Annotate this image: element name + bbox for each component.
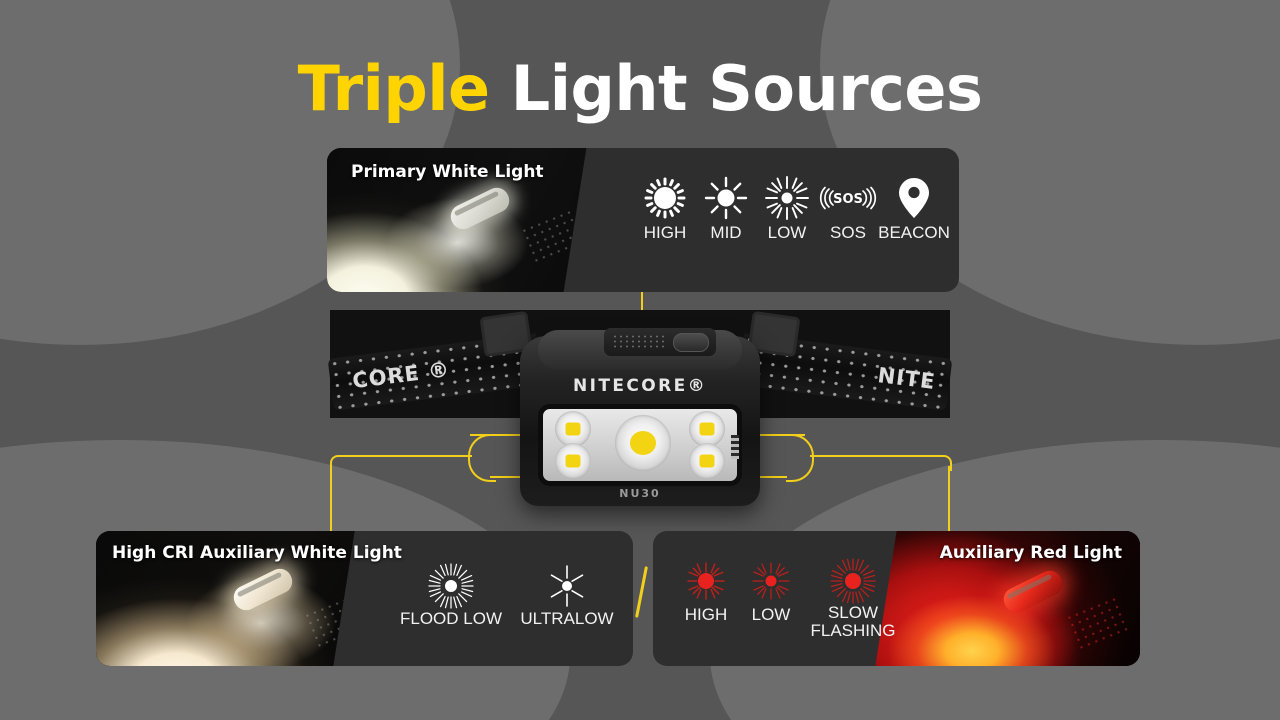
switch-texture xyxy=(612,334,664,349)
mode-primary-sos-label: SOS xyxy=(830,224,866,242)
primary-mode-list: HIGH MID xyxy=(637,174,947,242)
beacon-pin-icon xyxy=(897,174,931,222)
panel-red-label: Auxiliary Red Light xyxy=(940,543,1122,563)
mode-primary-low-label: LOW xyxy=(768,224,807,242)
mode-red-slow-flashing-label: SLOW FLASHING xyxy=(810,604,895,640)
mode-primary-high[interactable]: HIGH xyxy=(637,174,693,242)
red-sun-flash-icon xyxy=(829,559,877,603)
power-button[interactable] xyxy=(673,333,709,352)
led-bottom-left xyxy=(555,443,591,479)
mode-red-high-label: HIGH xyxy=(685,606,728,624)
lamp-top-housing xyxy=(538,330,742,370)
svg-text:SOS: SOS xyxy=(833,192,863,207)
led-top-right xyxy=(689,411,725,447)
lamp-body: NITECORE® NU30 xyxy=(520,336,760,506)
page-title-rest: Light Sources xyxy=(490,52,983,125)
lamp-brand-text: NITECORE® xyxy=(520,376,760,396)
panel-auxiliary-red-light: Auxiliary Red Light xyxy=(653,531,1140,666)
red-sun-high-icon xyxy=(685,559,727,603)
mode-primary-beacon-label: BEACON xyxy=(878,224,950,242)
lamp-model-text: NU30 xyxy=(520,487,760,500)
switch-pad[interactable] xyxy=(604,328,716,356)
mode-primary-high-label: HIGH xyxy=(644,224,687,242)
mode-primary-sos[interactable]: SOS SOS xyxy=(820,174,876,242)
mode-red-high[interactable]: HIGH xyxy=(677,559,735,624)
mode-primary-low[interactable]: LOW xyxy=(759,174,815,242)
mode-cri-ultralow[interactable]: ULTRALOW xyxy=(514,563,620,628)
led-center-main xyxy=(615,415,671,471)
mode-cri-flood-low[interactable]: FLOOD LOW xyxy=(398,563,504,628)
mode-primary-mid-label: MID xyxy=(710,224,741,242)
mode-red-slow-flashing[interactable]: SLOW FLASHING xyxy=(807,559,899,640)
headlamp-illustration: CORE ® NITE NITECORE® xyxy=(330,296,950,521)
mode-red-low-label: LOW xyxy=(752,606,791,624)
sos-icon: SOS xyxy=(819,174,877,222)
page-title-accent: Triple xyxy=(298,52,490,125)
panel-high-cri-white-light: High CRI Auxiliary White Light xyxy=(96,531,633,666)
panel-primary-label: Primary White Light xyxy=(351,162,544,182)
mode-primary-mid[interactable]: MID xyxy=(698,174,754,242)
mode-red-low[interactable]: LOW xyxy=(742,559,800,624)
led-top-left xyxy=(555,411,591,447)
red-sun-low-icon xyxy=(750,559,792,603)
page-title: Triple Light Sources xyxy=(0,58,1280,120)
sun-low-icon xyxy=(764,174,810,222)
red-mode-list: HIGH xyxy=(677,559,899,640)
sun-high-icon xyxy=(642,174,688,222)
sun-mid-icon xyxy=(703,174,749,222)
infographic-canvas: Triple Light Sources CORE ® NITE xyxy=(0,0,1280,720)
starburst-ultralow-icon xyxy=(543,563,591,609)
starburst-flood-icon xyxy=(427,563,475,609)
panel-primary-white-light: Primary White Light xyxy=(327,148,959,292)
mode-cri-ultralow-label: ULTRALOW xyxy=(520,610,613,628)
mode-cri-flood-low-label: FLOOD LOW xyxy=(400,610,502,628)
led-bottom-right xyxy=(689,443,725,479)
mode-primary-beacon[interactable]: BEACON xyxy=(881,174,947,242)
lens-assembly xyxy=(538,404,742,486)
panel-cri-label: High CRI Auxiliary White Light xyxy=(112,543,402,563)
cri-mode-list: FLOOD LOW ULTRALOW xyxy=(398,563,620,628)
lens-vent xyxy=(731,435,739,459)
